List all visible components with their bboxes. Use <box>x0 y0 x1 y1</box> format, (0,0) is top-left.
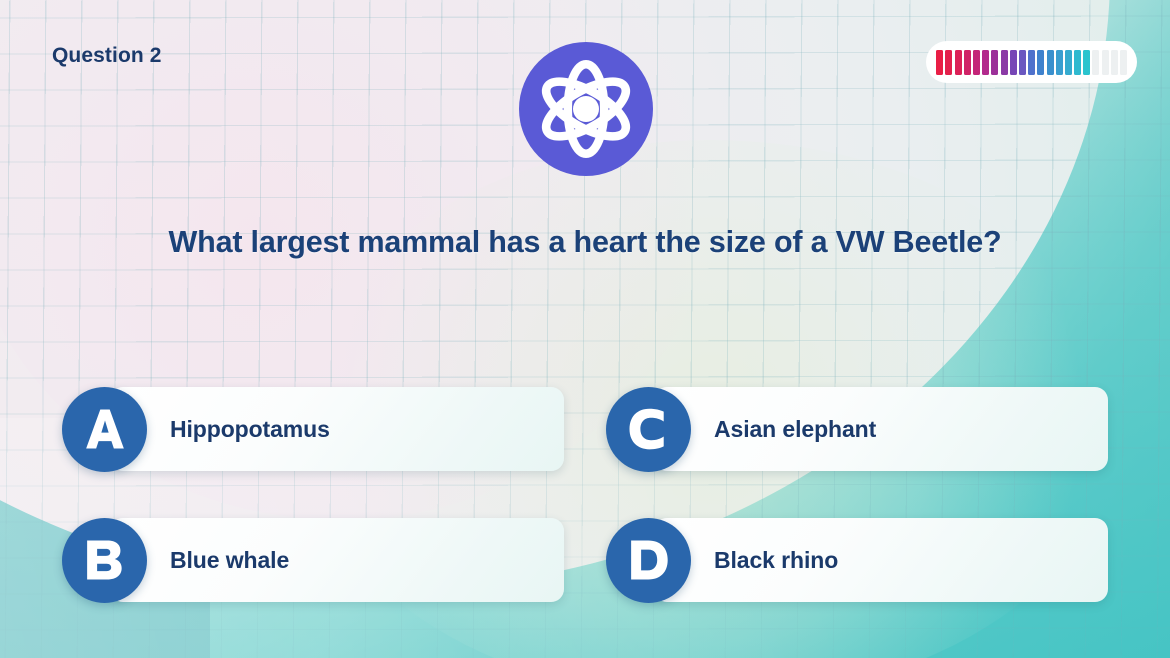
letter-b-glyph <box>79 534 131 586</box>
quiz-slide: Question 2 What largest mammal has a hea… <box>0 0 1170 658</box>
progress-segment-filled <box>1083 50 1090 75</box>
answer-label-b: Blue whale <box>170 547 289 574</box>
letter-a-glyph <box>79 403 131 455</box>
answer-option-b[interactable]: Blue whale <box>62 516 564 604</box>
progress-segment-filled <box>973 50 980 75</box>
question-text: What largest mammal has a heart the size… <box>0 225 1170 260</box>
progress-segment-empty <box>1092 50 1099 75</box>
progress-segment-filled <box>945 50 952 75</box>
progress-segment-filled <box>1028 50 1035 75</box>
letter-c-glyph <box>623 403 675 455</box>
answer-options-grid: Hippopotamus Asian elephant <box>62 385 1110 604</box>
answer-label-a: Hippopotamus <box>170 416 330 443</box>
answer-option-c[interactable]: Asian elephant <box>606 385 1108 473</box>
progress-segment-filled <box>1056 50 1063 75</box>
progress-segment-filled <box>955 50 962 75</box>
progress-segment-filled <box>1019 50 1026 75</box>
progress-segment-filled <box>991 50 998 75</box>
answer-letter-badge-a <box>62 387 147 472</box>
atom-icon <box>534 57 638 161</box>
answer-letter-badge-c <box>606 387 691 472</box>
progress-segment-filled <box>1047 50 1054 75</box>
answer-label-d: Black rhino <box>714 547 838 574</box>
question-number-label: Question 2 <box>52 44 162 68</box>
answer-label-c: Asian elephant <box>714 416 876 443</box>
progress-segment-empty <box>1102 50 1109 75</box>
progress-segment-filled <box>1037 50 1044 75</box>
progress-segment-filled <box>1001 50 1008 75</box>
progress-segment-filled <box>1010 50 1017 75</box>
answer-letter-badge-d <box>606 518 691 603</box>
answer-option-a[interactable]: Hippopotamus <box>62 385 564 473</box>
progress-segment-filled <box>982 50 989 75</box>
timer-progress-bar <box>926 41 1137 83</box>
answer-option-d[interactable]: Black rhino <box>606 516 1108 604</box>
atom-logo-badge <box>519 42 653 176</box>
progress-segment-empty <box>1111 50 1118 75</box>
progress-segment-filled <box>936 50 943 75</box>
progress-segment-empty <box>1120 50 1127 75</box>
progress-segment-filled <box>1065 50 1072 75</box>
progress-segment-filled <box>1074 50 1081 75</box>
answer-letter-badge-b <box>62 518 147 603</box>
progress-segment-filled <box>964 50 971 75</box>
letter-d-glyph <box>623 534 675 586</box>
